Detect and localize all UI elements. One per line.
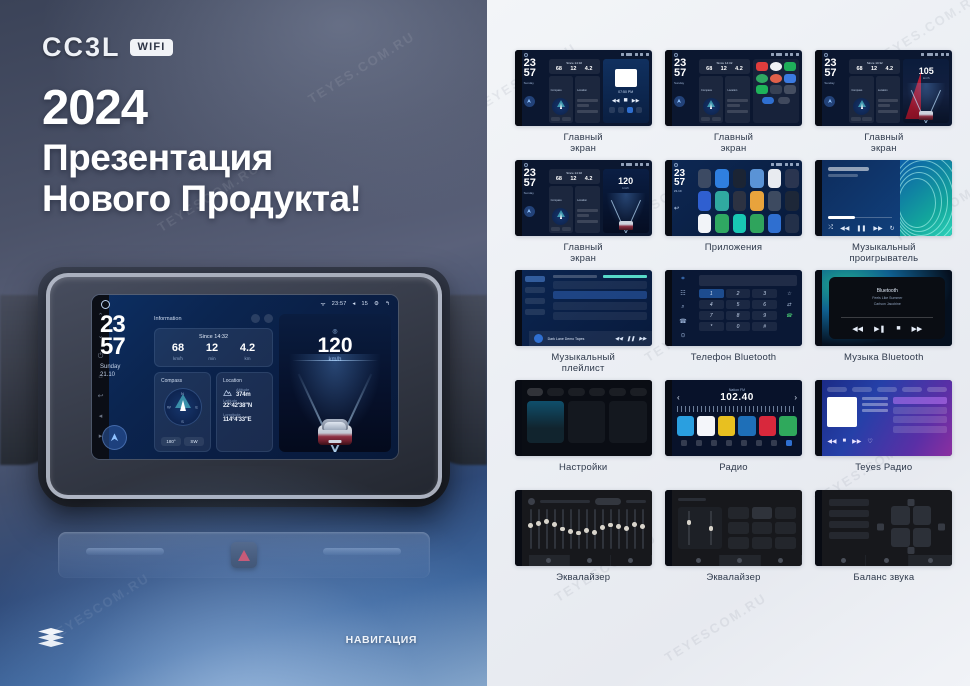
speaker-front-right (913, 506, 932, 525)
navigation-arrow-icon (109, 432, 120, 443)
navigation-fab-button[interactable] (524, 96, 535, 107)
bt-track-title: Feels Like Summer (829, 296, 945, 300)
mini-hud-panel: 120 km/h (603, 169, 649, 233)
thumbnail-grid: 23 57 Sunday Since 14:32 68 12 (511, 50, 956, 596)
eq-band (586, 509, 588, 549)
prev-icon: ◀◀ (852, 325, 863, 333)
gallery-item[interactable]: 23 57 Sunday Since 14:32 68124.2 Compass… (511, 160, 655, 266)
gallery-item[interactable]: Эквалайзер (661, 490, 805, 596)
gallery-item[interactable]: ⌗☷⌕☎⊙ 123 456 789 *0# (661, 270, 805, 376)
eq-band-sliders[interactable] (528, 509, 646, 549)
thumbnail-equalizer[interactable] (515, 490, 652, 566)
mini-compass-dial (552, 98, 569, 115)
power-icon (786, 440, 792, 446)
tune-down-button[interactable]: ‹ (677, 393, 680, 402)
tab-sound (547, 388, 564, 396)
bt-music-screen[interactable]: Bluetooth Feels Like Summer Carlson Jaco… (822, 270, 952, 346)
dial-keypad[interactable]: 123 456 789 *0# (699, 289, 777, 331)
navigation-fab-button[interactable] (524, 206, 535, 217)
wifi-card[interactable] (527, 401, 564, 443)
refresh-icon[interactable] (251, 314, 260, 323)
gear-icon[interactable]: ⚙ (374, 301, 379, 307)
thumbnail-caption: Телефон Bluetooth (691, 352, 777, 376)
back-icon[interactable]: ↩ (674, 207, 694, 212)
media-quick-actions[interactable] (609, 107, 642, 113)
thumbnail-bt-music[interactable]: Bluetooth Feels Like Summer Carlson Jaco… (815, 270, 952, 346)
dialer-sidebar[interactable]: ⌗☷⌕☎⊙ (672, 270, 694, 346)
navigation-arrow-icon (526, 98, 532, 104)
app-icon (733, 191, 747, 210)
headline-line2: Нового Продукта! (42, 178, 361, 219)
navigation-arrow-icon (827, 98, 833, 104)
radio-screen[interactable]: Nation FM ‹ 102.40 › (672, 380, 802, 456)
eq-band (618, 509, 620, 549)
tab-eq (529, 555, 570, 566)
player-controls: ◀◀❚❚▶▶ (615, 336, 647, 342)
teyes-tabs[interactable] (827, 387, 947, 392)
tab-news (902, 387, 922, 392)
compass-direction: SW (184, 437, 204, 446)
mini-clock-minutes: 57 (524, 69, 546, 79)
teyes-radio-screen[interactable]: ◀◀■▶▶♡ (822, 380, 952, 456)
preset-station (779, 416, 797, 436)
altitude-row: Altitude 374m (223, 387, 266, 398)
eq-band (546, 509, 548, 549)
eq-band (538, 509, 540, 549)
list-item (893, 416, 947, 423)
thumbnail-settings[interactable] (515, 380, 652, 456)
tone-controls[interactable] (678, 507, 796, 549)
mini-location-title: Location (577, 89, 587, 92)
mini-since: Since 14:32 (552, 61, 597, 65)
settings-screen[interactable] (522, 380, 652, 456)
album-art (827, 397, 857, 427)
call-log-icon: ☎ (679, 318, 686, 325)
mini-hud-unit: km/h (603, 186, 649, 190)
expand-icon[interactable] (264, 314, 273, 323)
gallery-item[interactable]: Настройки (511, 380, 655, 486)
thumbnail-caption: Teyes Радио (855, 462, 912, 486)
preset-button (752, 507, 773, 519)
compass-needle-icon (180, 400, 186, 411)
preset-button (775, 522, 796, 534)
tab-tone (720, 555, 761, 566)
preset-button (775, 507, 796, 519)
tab-more (927, 387, 947, 392)
thumbnail-caption: Музыка Bluetooth (844, 352, 924, 376)
player-controls[interactable]: ◀◀■▶▶♡ (827, 438, 947, 445)
thumbnail-caption: Радио (719, 462, 747, 486)
play-pause-icon: ▶❚ (874, 325, 885, 333)
app-icon (756, 62, 768, 71)
thumbnail-caption: Главный экран (564, 132, 603, 156)
preset-station (697, 416, 715, 436)
eq-band (554, 509, 556, 549)
tune-up-button[interactable]: › (794, 393, 797, 402)
brand-model-text: CC3L (42, 32, 121, 63)
mini-compass-title: Compass (551, 89, 562, 92)
list-item (553, 281, 647, 289)
sidebar-item-artist (525, 309, 545, 315)
car-model (318, 415, 352, 445)
call-icon: ☎ (781, 311, 797, 320)
head-unit-screen[interactable]: ⌃ ⌄ ⏻ ⌂ ↩ ◂ ▸ ᯤ 23:57 ◂ 15 ⚙ ↰ 23 57 (92, 295, 398, 459)
trip-stat-unit: km/h (172, 356, 184, 361)
key-5: 5 (726, 300, 751, 309)
progress-bar[interactable] (841, 317, 933, 318)
now-playing-title: Dark Lane Demo Tapes (548, 337, 585, 341)
media-controls[interactable]: ◀◀■▶▶ (612, 97, 640, 104)
track-title-bar (828, 167, 869, 171)
thumbnail-apps[interactable]: 23 57 21.10 ↩ (665, 160, 802, 236)
air-vent-left (86, 548, 164, 555)
thumbnail-home-hud-red[interactable]: 23 57 Sunday Since 14:32 68124.2 Compass… (815, 50, 952, 126)
favorite-icon: ☆ (781, 289, 797, 298)
hazard-triangle-icon (238, 550, 250, 561)
next-icon: ▶▶ (639, 336, 647, 342)
preset-icon (528, 498, 535, 505)
mini-hud-speed: 105 (903, 66, 949, 76)
tab-balance (570, 555, 611, 566)
tab-system (589, 388, 606, 396)
clock-day: Sunday (100, 364, 148, 372)
player-info: ⤮◀◀❚❚▶▶↻ (822, 160, 900, 236)
equalizer-tabs[interactable] (529, 555, 652, 566)
visualizer (900, 160, 952, 236)
preset-driver (829, 499, 869, 506)
mini-app-shortcuts[interactable] (753, 59, 799, 123)
sidebar-item-all (525, 287, 545, 293)
key-4: 4 (699, 300, 724, 309)
trip-stat-value: 4.2 (240, 343, 255, 354)
car-model (619, 221, 633, 230)
tab-apps (609, 388, 626, 396)
preset-button (728, 522, 749, 534)
thumbnail-caption: Эквалайзер (556, 572, 610, 596)
key-hash: # (752, 322, 777, 331)
gallery-item[interactable]: 23 57 21.10 ↩ (661, 160, 805, 266)
compass-readout: 180° SW (161, 437, 204, 446)
arrow-up-icon (908, 499, 915, 506)
navigation-label: НАВИГАЦИЯ (346, 634, 417, 646)
search-icon: ⌕ (681, 304, 684, 311)
longitude-row: Longitude 114°4'33"E (223, 412, 266, 423)
speaker-rear-left (891, 528, 910, 547)
watermark: TEYESCOM.RU (662, 590, 769, 665)
progress-bar[interactable] (828, 217, 892, 219)
location-widget[interactable]: Location Altitude 374m Latitude 22°4 (216, 372, 273, 452)
preset-station (718, 416, 736, 436)
stop-icon: ■ (896, 325, 900, 333)
road-horizon (292, 360, 377, 361)
headline: 2024 Презентация Нового Продукта! (42, 84, 361, 220)
thumbnail-caption: Музыкальный плейлист (551, 352, 615, 376)
list-item (893, 426, 947, 433)
volume-icon (635, 53, 638, 56)
tab-balance (909, 555, 952, 566)
compass-widget[interactable]: Compass N E S W 180° SW (154, 372, 211, 452)
app-drawer[interactable]: 23 57 21.10 ↩ (674, 169, 799, 233)
tab-more (611, 555, 652, 566)
hud-speed-value: 120 (279, 336, 391, 356)
player-controls[interactable]: ◀◀▶❚■▶▶ (829, 325, 945, 333)
preset-station (738, 416, 756, 436)
preset-station (759, 416, 777, 436)
eq-band (578, 509, 580, 549)
eq-band (626, 509, 628, 549)
thumbnail-caption: Главный экран (714, 132, 753, 156)
gallery-item[interactable]: 23 57 Sunday Since 14:32 68124.2 Compass… (661, 50, 805, 156)
preset-button (728, 537, 749, 549)
app-icon (770, 74, 782, 83)
app-icon (784, 74, 796, 83)
thumbnail-caption: Приложения (705, 242, 763, 266)
eq-band (562, 509, 564, 549)
bass-treble-sliders[interactable] (678, 507, 722, 549)
apps-clock: 23 57 21.10 ↩ (674, 169, 694, 233)
hazard-light-button[interactable] (231, 542, 257, 568)
car-plate (329, 440, 342, 443)
prev-icon: ◀◀ (612, 98, 620, 104)
balance-presets[interactable] (829, 499, 869, 554)
player-controls[interactable]: ⤮◀◀❚❚▶▶↻ (828, 225, 894, 232)
app-icon (698, 169, 712, 188)
thumbnail-caption: Баланс звука (853, 572, 914, 596)
navigation-arrow-icon (526, 208, 532, 214)
thumbnail-music-player[interactable]: ⤮◀◀❚❚▶▶↻ (815, 160, 952, 236)
equalizer-tabs[interactable] (822, 555, 952, 566)
mini-hud-unit: km/h (903, 76, 949, 80)
gallery-item[interactable]: Эквалайзер (511, 490, 655, 596)
home-icon (824, 53, 828, 57)
gallery-item[interactable]: 23 57 Sunday Since 14:32 68 12 (511, 50, 655, 156)
compass-title: Compass (161, 378, 204, 384)
key-1: 1 (699, 289, 724, 298)
gallery-item[interactable]: ◀◀■▶▶♡ Teyes Радио (812, 380, 956, 486)
trip-stat: 68 km/h (172, 343, 184, 361)
settings-tabs[interactable] (527, 388, 647, 396)
location-title: Location (223, 378, 266, 384)
thumbnail-playlist[interactable]: Dark Lane Demo Tapes ◀◀❚❚▶▶ (515, 270, 652, 346)
home-icon (524, 163, 528, 167)
tab-podcast (852, 387, 872, 392)
thumbnail-equalizer-2[interactable] (665, 490, 802, 566)
car-rear-window (324, 422, 346, 430)
play-icon: ■ (624, 97, 628, 104)
information-actions[interactable] (251, 314, 273, 323)
shuffle-icon: ⤮ (828, 225, 833, 232)
gallery-item[interactable]: ⤮◀◀❚❚▶▶↻ Музыкальный проигрыватель (812, 160, 956, 266)
home-icon (674, 53, 678, 57)
car-model (919, 111, 933, 120)
mini-status-bar (524, 52, 649, 57)
album-art (534, 334, 543, 343)
more-card[interactable] (609, 401, 646, 443)
gallery-item[interactable]: Bluetooth Feels Like Summer Carlson Jaco… (812, 270, 956, 376)
equalizer-2-screen[interactable] (672, 490, 802, 566)
preset-button (752, 537, 773, 549)
settings-icon: ⊙ (680, 332, 685, 339)
latitude-value: 22°42'38"N (223, 403, 266, 409)
station-list[interactable] (893, 397, 947, 433)
search-icon (696, 440, 702, 446)
app-icon (785, 191, 799, 210)
playlist-screen[interactable]: Dark Lane Demo Tapes ◀◀❚❚▶▶ (522, 270, 652, 346)
preset-all (829, 532, 869, 539)
headline-year: 2024 (42, 84, 361, 134)
list-icon (711, 440, 717, 446)
tab-tone (866, 555, 909, 566)
music-player-screen[interactable]: ⤮◀◀❚❚▶▶↻ (822, 160, 952, 236)
preset-station (677, 416, 695, 436)
frequency-scale[interactable] (677, 406, 797, 412)
preset-rear (829, 521, 869, 528)
thumbnail-caption: Эквалайзер (706, 572, 760, 596)
thumbnail-teyes-radio[interactable]: ◀◀■▶▶♡ (815, 380, 952, 456)
tuner-row[interactable]: ‹ 102.40 › (677, 392, 797, 403)
list-item (553, 312, 647, 320)
now-playing-bar[interactable]: Dark Lane Demo Tapes ◀◀❚❚▶▶ (529, 331, 652, 346)
clock-minutes: 57 (100, 336, 148, 358)
list-item (893, 407, 947, 414)
navigation-fab-button[interactable] (674, 96, 685, 107)
mountain-icon (223, 389, 232, 396)
trip-stat-value: 12 (206, 343, 218, 354)
information-title: Information (154, 316, 182, 322)
next-icon: ▶▶ (632, 98, 640, 104)
repeat-icon: ↻ (890, 225, 895, 232)
mini-stat: 12 (570, 66, 576, 72)
favorite-icon: ♡ (867, 438, 872, 445)
key-2: 2 (726, 289, 751, 298)
contacts-icon: ☷ (680, 290, 685, 297)
mini-hud-speed: 120 (603, 176, 649, 186)
tab-wifi (527, 388, 544, 396)
back-icon (646, 53, 649, 56)
clock-text-icon (626, 53, 632, 56)
thumbnail-home-media[interactable]: 23 57 Sunday Since 14:32 68 12 (515, 50, 652, 126)
preset-selector[interactable] (595, 498, 621, 505)
compass-n: N (181, 391, 184, 396)
eq-band (594, 509, 596, 549)
app-icon (756, 85, 768, 94)
app-icon (768, 169, 782, 188)
equalizer-header[interactable] (528, 498, 646, 505)
app-icon (770, 62, 782, 71)
eq-band (570, 509, 572, 549)
list-item (553, 302, 647, 310)
thumbnail-radio[interactable]: Nation FM ‹ 102.40 › (665, 380, 802, 456)
gallery-item[interactable]: 23 57 Sunday Since 14:32 68124.2 Compass… (812, 50, 956, 156)
hotspot-card[interactable] (568, 401, 605, 443)
band-button (681, 440, 687, 446)
equalizer-tabs[interactable] (679, 555, 802, 566)
key-3: 3 (752, 289, 777, 298)
air-vent-right (323, 548, 401, 555)
status-bar: ᯤ 23:57 ◂ 15 ⚙ ↰ (321, 300, 390, 308)
gallery-item[interactable]: Баланс звука (812, 490, 956, 596)
dialpad-icon: ⌗ (681, 276, 684, 283)
mini-hud-panel: 105 km/h (903, 59, 949, 123)
wifi-icon: ᯤ (321, 300, 326, 308)
thumbnail-caption: Настройки (559, 462, 607, 486)
number-field[interactable] (699, 275, 797, 286)
app-icon-grid[interactable] (698, 169, 799, 233)
hud-panel[interactable]: ◎ 120 km/h (279, 314, 391, 452)
home-button[interactable] (101, 300, 110, 309)
artist-bar (828, 174, 858, 177)
center-console (0, 512, 487, 632)
key-0: 0 (726, 322, 751, 331)
key-6: 6 (752, 300, 777, 309)
navigation-fab-button[interactable] (102, 425, 127, 450)
settings-cards[interactable] (527, 401, 647, 443)
radio-toolbar[interactable] (677, 440, 797, 446)
information-header: Information (154, 314, 273, 323)
thumbnail-home-hud[interactable]: 23 57 Sunday Since 14:32 68124.2 Compass… (515, 160, 652, 236)
gallery-item[interactable]: Dark Lane Demo Tapes ◀◀❚❚▶▶ Музыкальный … (511, 270, 655, 376)
thumbnail-bt-phone[interactable]: ⌗☷⌕☎⊙ 123 456 789 *0# (665, 270, 802, 346)
app-icon (756, 74, 768, 83)
equalizer-screen[interactable] (522, 490, 652, 566)
screenshot-gallery: TEYESCOM.RU TEYES.COM.RU TEYESCOM.RU TEY… (487, 0, 970, 686)
app-icon (770, 85, 782, 94)
app-icon (715, 169, 729, 188)
clock-column: 23 57 Sunday 21.10 (100, 314, 148, 452)
thumbnail-home-apps[interactable]: 23 57 Sunday Since 14:32 68124.2 Compass… (665, 50, 802, 126)
settings-icon (771, 440, 777, 446)
dialer-screen[interactable]: ⌗☷⌕☎⊙ 123 456 789 *0# (672, 270, 802, 346)
longitude-value: 114°4'33"E (223, 417, 266, 423)
compass-w: W (167, 405, 171, 410)
back-arrow-icon[interactable]: ↰ (385, 301, 390, 307)
preset-buttons[interactable] (728, 507, 796, 549)
app-icon (750, 191, 764, 210)
preset-grid[interactable] (677, 416, 797, 436)
arrow-down-icon (908, 547, 915, 554)
eq-band (530, 509, 532, 549)
navigation-fab-button[interactable] (824, 96, 835, 107)
eq-band (610, 509, 612, 549)
trip-stat-value: 68 (172, 343, 184, 354)
thumbnail-caption: Музыкальный проигрыватель (849, 242, 918, 266)
app-icon (768, 214, 782, 233)
tab-about (630, 388, 647, 396)
trip-since: Since 14:32 (161, 334, 266, 340)
arrow-left-icon (877, 523, 884, 530)
home-icon (674, 163, 678, 167)
app-icon (733, 169, 747, 188)
list-item (893, 397, 947, 404)
loc-icon (756, 440, 762, 446)
media-time: 07:50 PM (618, 90, 633, 94)
thumbnail-balance[interactable] (815, 490, 952, 566)
gear-icon (640, 53, 643, 56)
clock-date: 21.10 (100, 372, 148, 380)
app-icon (750, 169, 764, 188)
app-icon (785, 214, 799, 233)
gallery-item[interactable]: Nation FM ‹ 102.40 › (661, 380, 805, 486)
balance-pad[interactable] (877, 499, 945, 554)
speaker-front-left (891, 506, 910, 525)
mini-location-widget: Location (575, 76, 600, 123)
app-pill (762, 97, 774, 104)
home-icon (524, 53, 528, 57)
compass-dial: N E S W (164, 388, 202, 426)
mini-compass-widget: Compass (549, 76, 574, 123)
list-item (553, 291, 647, 299)
presentation-slide: TEYESCOM.RU TEYES.COM.RU TEYESCOM.RU TEY… (0, 0, 970, 686)
